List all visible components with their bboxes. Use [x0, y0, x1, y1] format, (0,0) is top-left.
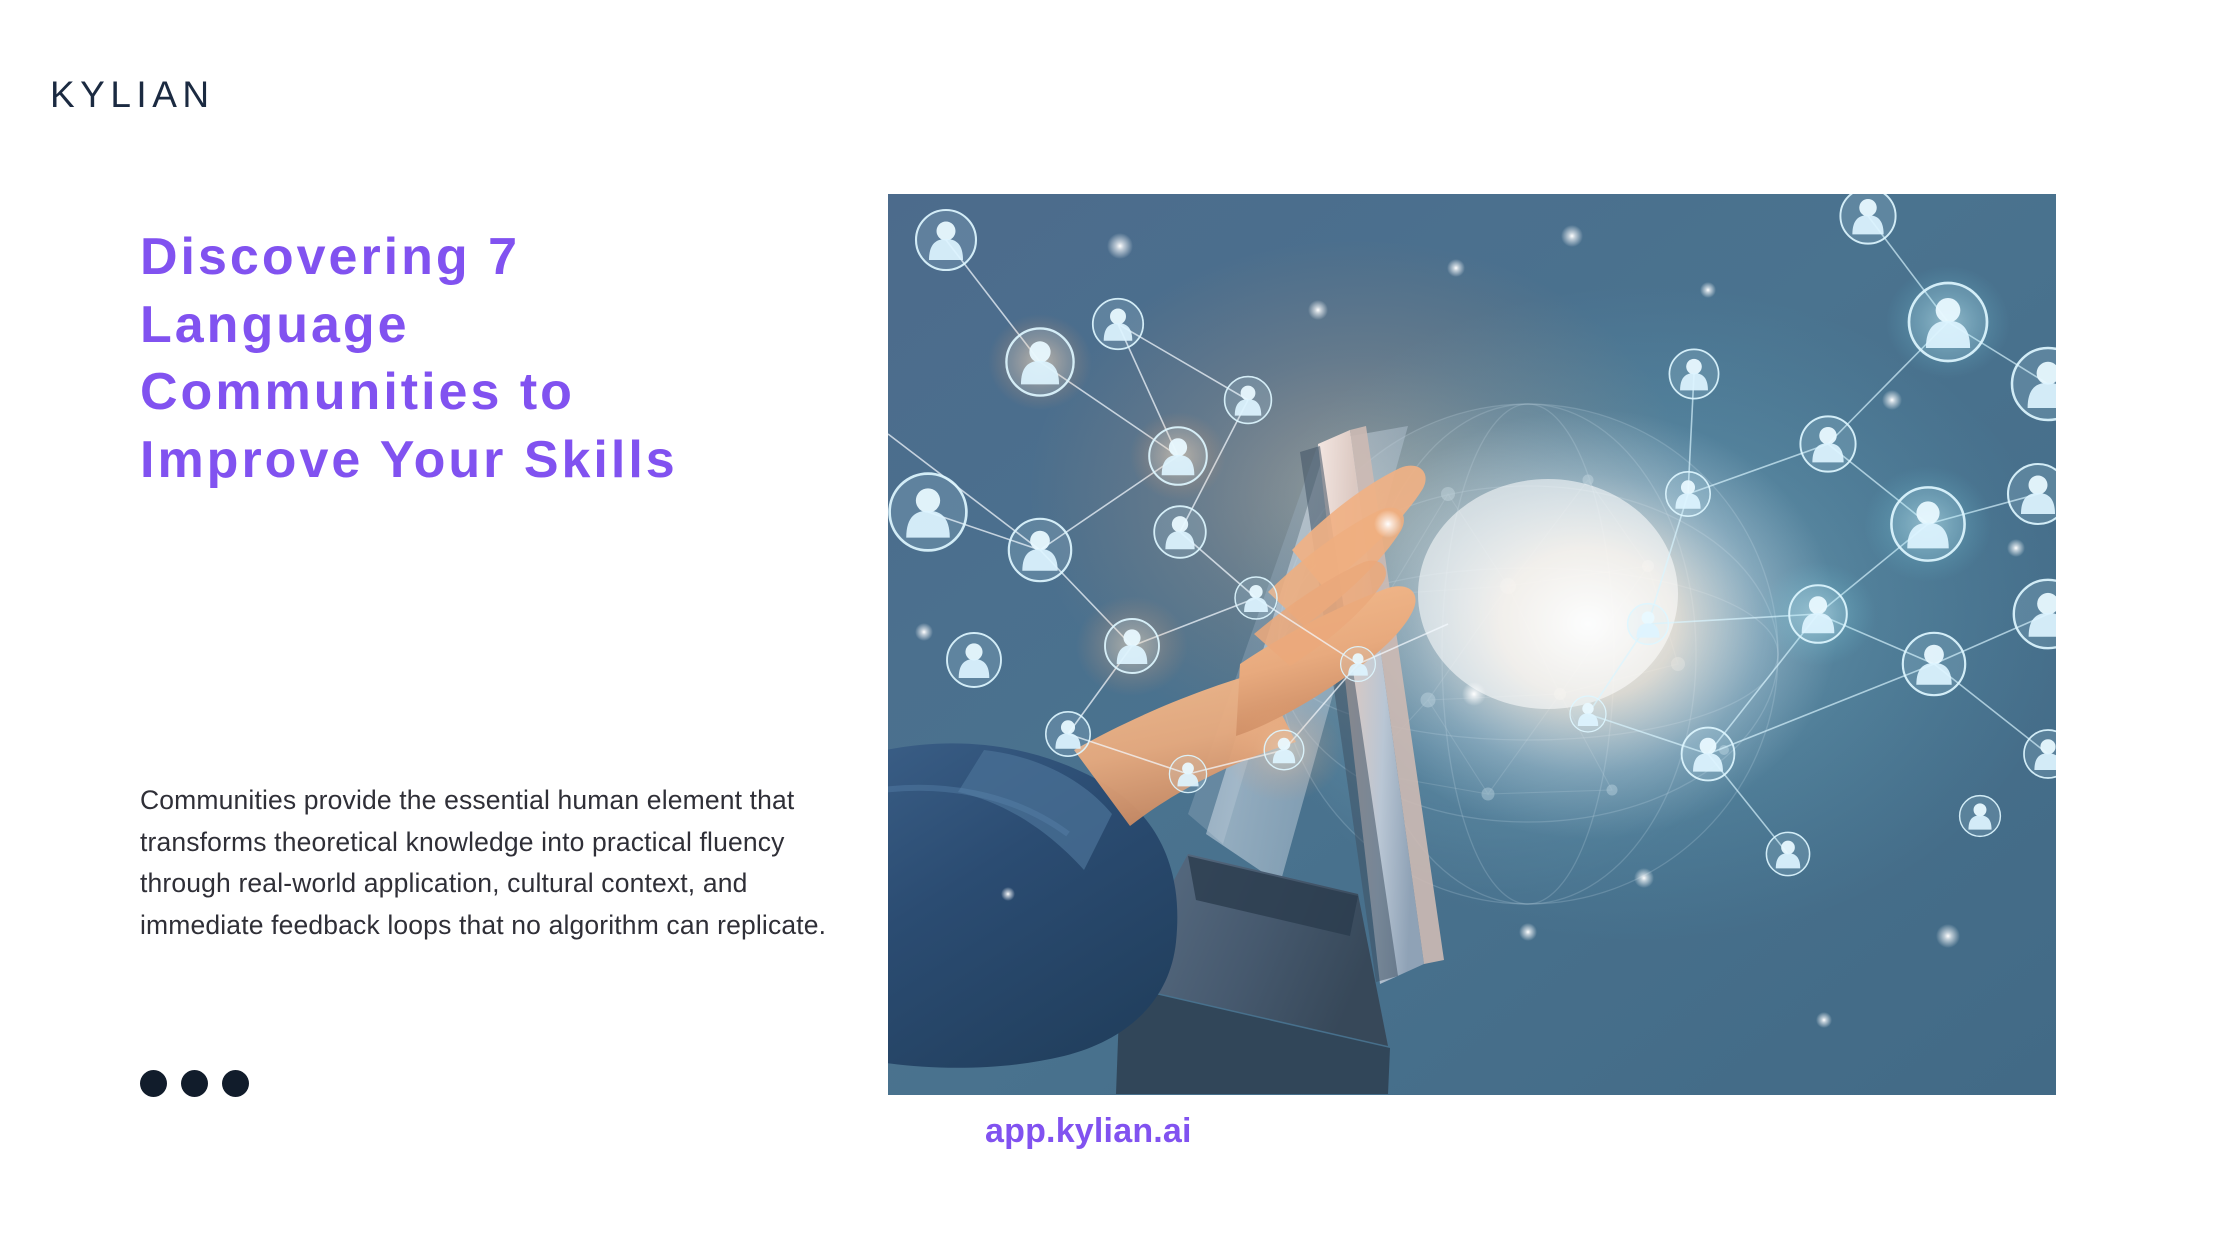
pagination-dots[interactable] — [140, 1070, 249, 1097]
hero-image — [888, 194, 2056, 1095]
pagination-dot-3[interactable] — [222, 1070, 249, 1097]
footer-url[interactable]: app.kylian.ai — [985, 1112, 1192, 1151]
pagination-dot-2[interactable] — [181, 1070, 208, 1097]
left-content-column: Discovering 7 Language Communities to Im… — [140, 0, 830, 1260]
pagination-dot-1[interactable] — [140, 1070, 167, 1097]
hero-image-graphic — [888, 194, 2056, 1095]
page-title: Discovering 7 Language Communities to Im… — [140, 224, 780, 494]
body-paragraph: Communities provide the essential human … — [140, 780, 830, 946]
slide-root: KYLIAN Discovering 7 Language Communitie… — [0, 0, 2240, 1260]
